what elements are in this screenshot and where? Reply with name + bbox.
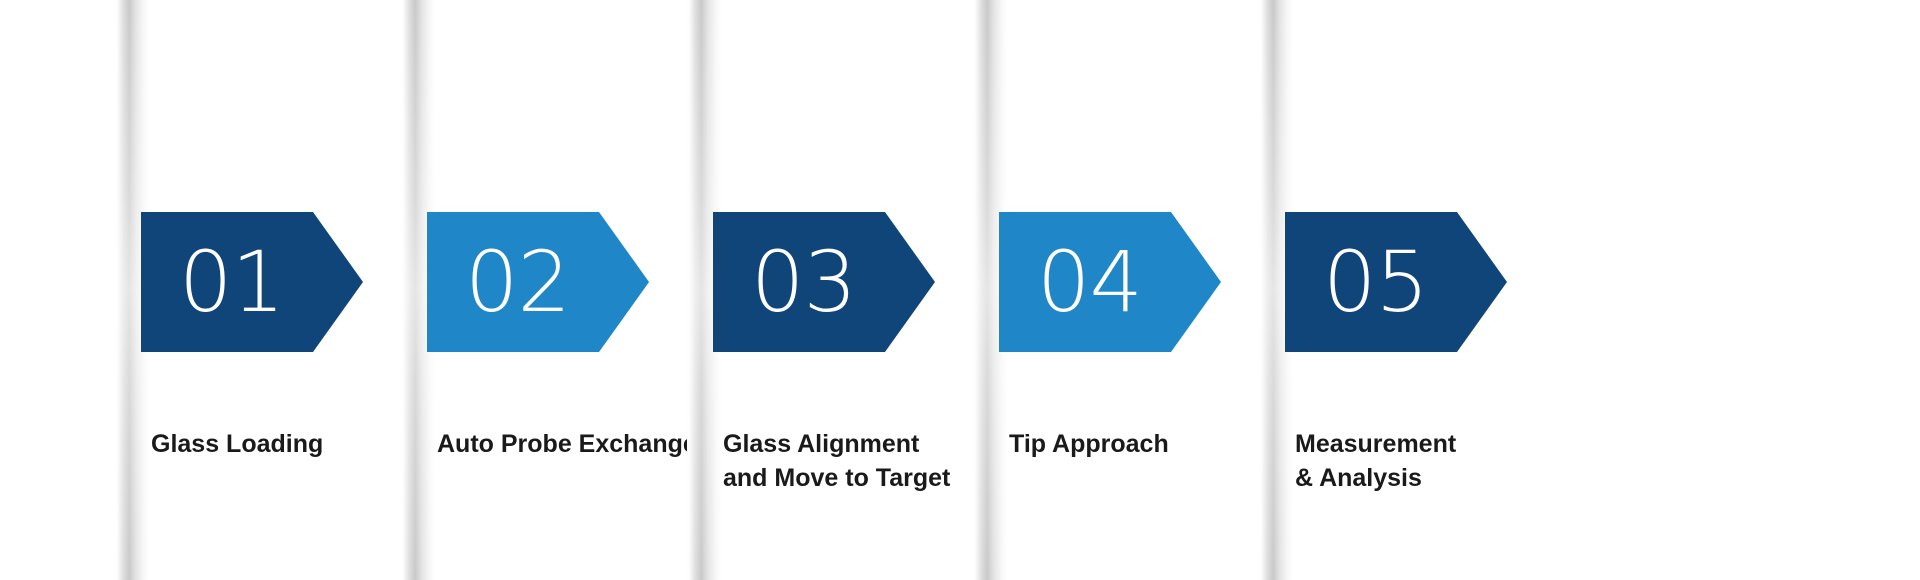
step-chevron-04: 04 xyxy=(999,212,1221,352)
step-chevron-02: 02 xyxy=(427,212,649,352)
process-flow-diagram: 01Glass Loading02Auto Probe Exchange03Gl… xyxy=(0,0,1920,580)
step-number: 05 xyxy=(1285,240,1428,324)
step-number: 02 xyxy=(427,240,570,324)
step-number: 04 xyxy=(999,240,1142,324)
step-chevron-01: 01 xyxy=(141,212,363,352)
step-chevron-03: 03 xyxy=(713,212,935,352)
step-number: 03 xyxy=(713,240,856,324)
step-label: Measurement & Analysis xyxy=(1295,428,1595,495)
step-number: 01 xyxy=(141,240,284,324)
step-chevron-05: 05 xyxy=(1285,212,1507,352)
